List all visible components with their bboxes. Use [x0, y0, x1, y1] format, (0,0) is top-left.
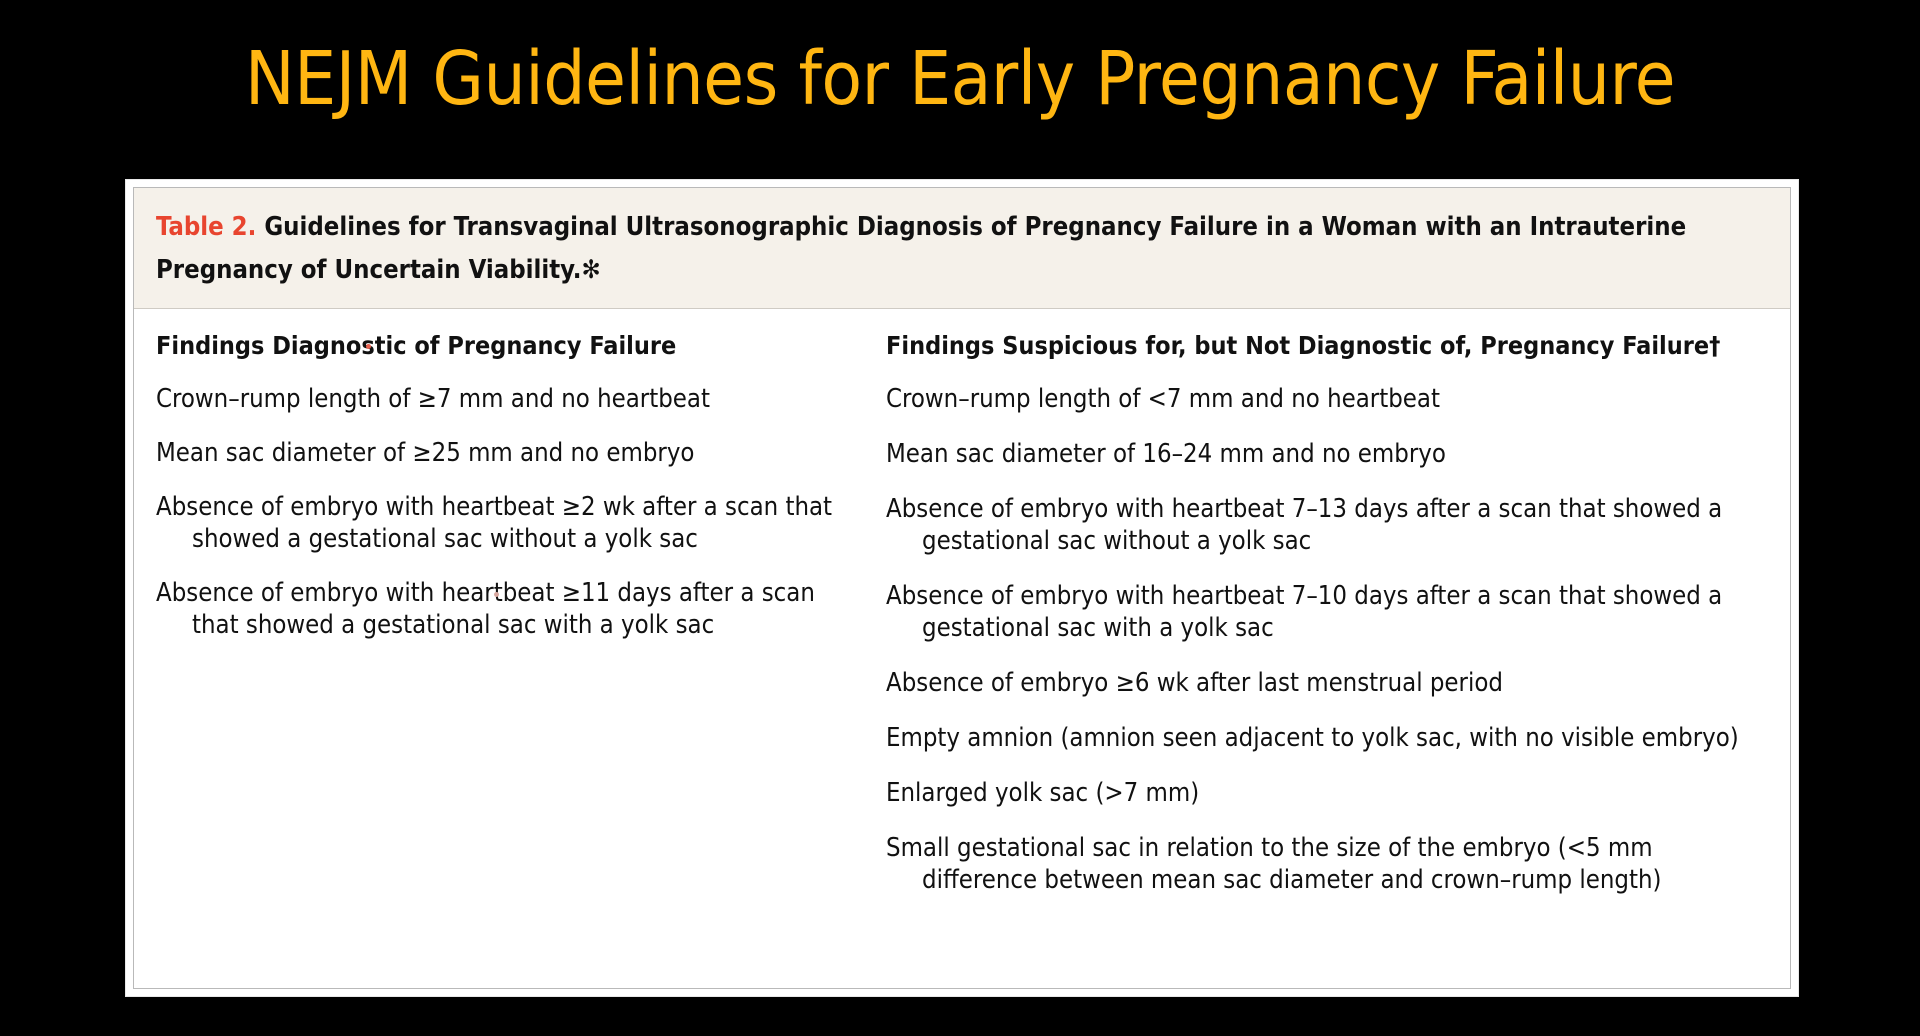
list-item: Absence of embryo with heartbeat ≥2 wk a…: [156, 491, 854, 555]
list-item: Absence of embryo with heartbeat 7–13 da…: [886, 493, 1766, 557]
table-frame: Table 2. Guidelines for Transvaginal Ult…: [133, 187, 1791, 989]
list-item: Mean sac diameter of 16–24 mm and no emb…: [886, 438, 1766, 470]
list-item: Absence of embryo with heartbeat 7–10 da…: [886, 580, 1766, 644]
list-item: Absence of embryo with heartbeat ≥11 day…: [156, 577, 854, 641]
table-figure: Table 2. Guidelines for Transvaginal Ult…: [126, 180, 1798, 996]
column-diagnostic: Findings Diagnostic of Pregnancy Failure…: [134, 309, 864, 663]
column-header-diagnostic: Findings Diagnostic of Pregnancy Failure: [156, 329, 854, 363]
column-suspicious: Findings Suspicious for, but Not Diagnos…: [864, 309, 1776, 919]
table-caption-label: Table 2.: [156, 212, 256, 242]
list-item: Mean sac diameter of ≥25 mm and no embry…: [156, 437, 854, 469]
findings-list-diagnostic: Crown–rump length of ≥7 mm and no heartb…: [156, 383, 854, 641]
list-item: Absence of embryo ≥6 wk after last menst…: [886, 667, 1766, 699]
list-item: Small gestational sac in relation to the…: [886, 832, 1766, 896]
table-columns: Findings Diagnostic of Pregnancy Failure…: [134, 309, 1790, 988]
list-item: Enlarged yolk sac (>7 mm): [886, 777, 1766, 809]
table-caption: Table 2. Guidelines for Transvaginal Ult…: [134, 188, 1790, 309]
list-item: Crown–rump length of ≥7 mm and no heartb…: [156, 383, 854, 415]
table-caption-text: Guidelines for Transvaginal Ultrasonogra…: [156, 212, 1686, 285]
list-item: Empty amnion (amnion seen adjacent to yo…: [886, 722, 1766, 754]
column-header-suspicious: Findings Suspicious for, but Not Diagnos…: [886, 329, 1766, 363]
findings-list-suspicious: Crown–rump length of <7 mm and no heartb…: [886, 383, 1766, 896]
list-item: Crown–rump length of <7 mm and no heartb…: [886, 383, 1766, 415]
page-title: NEJM Guidelines for Early Pregnancy Fail…: [0, 36, 1920, 122]
